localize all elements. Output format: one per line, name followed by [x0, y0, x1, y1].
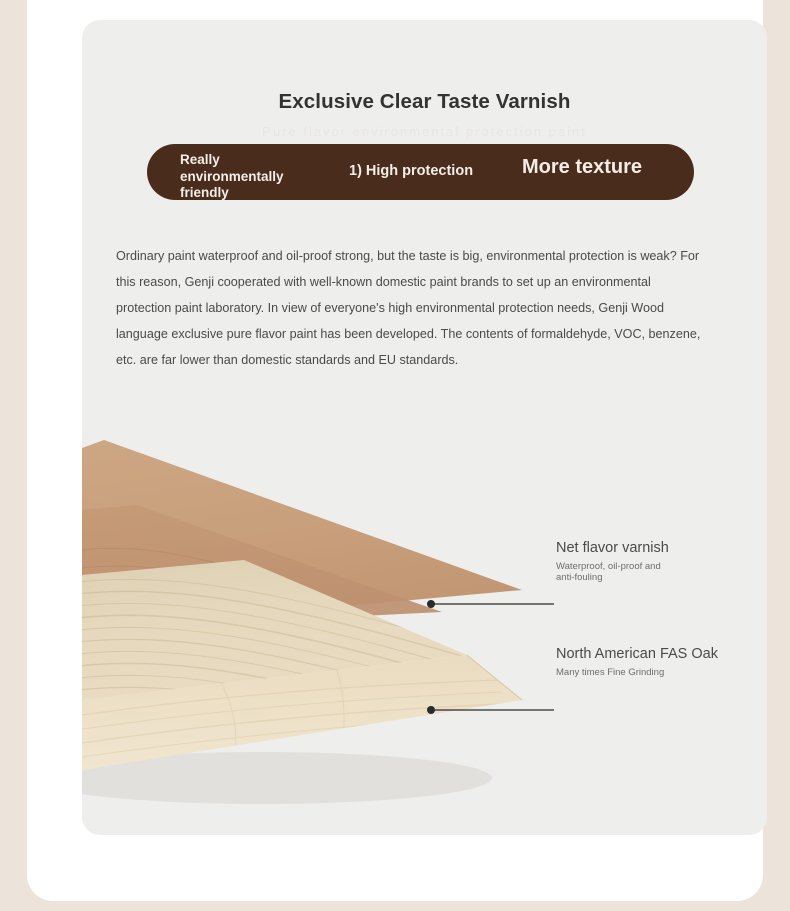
leader-varnish [427, 600, 554, 608]
page-sheet: Exclusive Clear Taste Varnish Pure flavo… [27, 0, 763, 901]
callout-title-varnish: Net flavor varnish [556, 540, 669, 556]
banner-item-eco-friendly: Really environmentally friendly [180, 152, 284, 202]
leader-dot-varnish [427, 600, 435, 608]
page-title: Exclusive Clear Taste Varnish [82, 90, 767, 114]
callout-title-oak: North American FAS Oak [556, 646, 718, 662]
callout-north-american-fas-oak: North American FAS Oak Many times Fine G… [556, 646, 718, 679]
product-detail-card: Exclusive Clear Taste Varnish Pure flavo… [82, 20, 767, 835]
layer-diagram: Net flavor varnish Waterproof, oil-proof… [82, 400, 767, 835]
feature-banner: Really environmentally friendly 1) High … [147, 144, 694, 200]
callout-net-flavor-varnish: Net flavor varnish Waterproof, oil-proof… [556, 540, 669, 583]
ghost-subtitle: Pure flavor environmental protection pai… [82, 124, 767, 139]
callout-subtitle-varnish: Waterproof, oil-proof and anti-fouling [556, 562, 669, 583]
banner-item-high-protection: 1) High protection [349, 163, 473, 179]
callout-subtitle-oak: Many times Fine Grinding [556, 668, 718, 679]
leader-dot-oak [427, 706, 435, 714]
banner-item-more-texture: More texture [522, 156, 642, 179]
description-paragraph: Ordinary paint waterproof and oil-proof … [116, 243, 708, 373]
wood-layers-svg [82, 400, 767, 835]
